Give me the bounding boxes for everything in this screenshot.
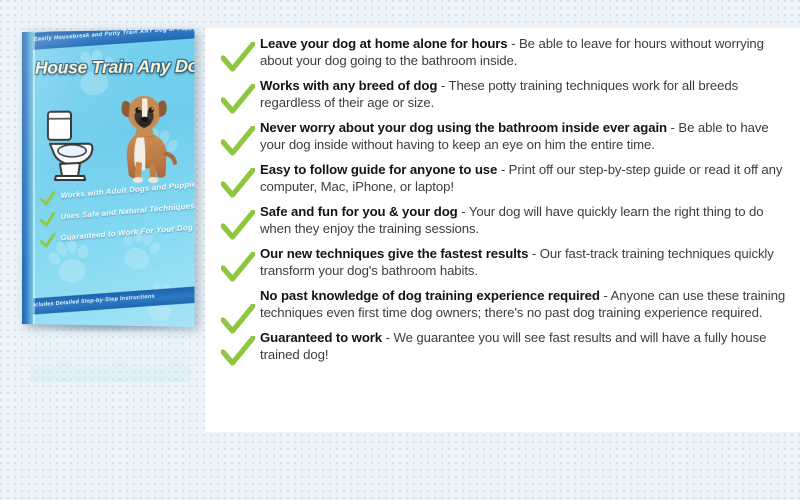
benefit-text: Never worry about your dog using the bat… [260, 120, 793, 153]
benefits-list: Leave your dog at home alone for hours -… [215, 36, 793, 372]
benefit-heading: Never worry about your dog using the bat… [260, 120, 667, 135]
check-icon [221, 252, 255, 282]
benefit-text: Our new techniques give the fastest resu… [260, 246, 793, 279]
benefit-heading: Works with any breed of dog [260, 78, 437, 93]
benefit-item: Guaranteed to work - We guarantee you wi… [215, 330, 793, 364]
benefit-heading: Easy to follow guide for anyone to use [260, 162, 497, 177]
book-spine-edge [33, 32, 35, 324]
benefit-heading: Our new techniques give the fastest resu… [260, 246, 528, 261]
benefit-item: Never worry about your dog using the bat… [215, 120, 793, 154]
benefit-heading: Leave your dog at home alone for hours [260, 36, 508, 51]
benefit-text: No past knowledge of dog training experi… [260, 288, 793, 321]
benefit-item: Leave your dog at home alone for hours -… [215, 36, 793, 70]
cover-bullet-list: Works with Adult Dogs and Puppies Uses S… [40, 190, 195, 254]
benefit-heading: Safe and fun for you & your dog [260, 204, 458, 219]
book-reflection-surface: Includes Detailed Step-by-Step Instructi… [30, 320, 190, 382]
check-icon [221, 84, 255, 114]
benefit-item: Safe and fun for you & your dog - Your d… [215, 204, 793, 238]
boxer-dog-icon [104, 78, 188, 188]
benefit-heading: Guaranteed to work [260, 330, 382, 345]
cover-bottom-banner-text: Includes Detailed Step-by-Step Instructi… [30, 294, 156, 309]
check-icon [221, 168, 255, 198]
benefit-text: Easy to follow guide for anyone to use -… [260, 162, 793, 195]
check-icon [221, 42, 255, 72]
benefits-panel: Leave your dog at home alone for hours -… [205, 28, 800, 432]
page-root: Includes Detailed Step-by-Step Instructi… [0, 0, 800, 500]
book-cover: Easily Housebreak and Potty Train ANY Do… [22, 29, 194, 327]
benefit-text: Guaranteed to work - We guarantee you wi… [260, 330, 793, 363]
benefit-item: Works with any breed of dog - These pott… [215, 78, 793, 112]
check-icon [39, 233, 56, 249]
benefit-item: Easy to follow guide for anyone to use -… [215, 162, 793, 196]
check-icon [221, 210, 255, 240]
benefit-item: No past knowledge of dog training experi… [215, 288, 793, 322]
toilet-icon [42, 109, 100, 182]
benefit-text: Works with any breed of dog - These pott… [260, 78, 793, 111]
benefit-text: Leave your dog at home alone for hours -… [260, 36, 793, 69]
check-icon [39, 212, 56, 228]
benefit-item: Our new techniques give the fastest resu… [215, 246, 793, 280]
check-icon [221, 126, 255, 156]
check-icon [221, 336, 255, 366]
book-spine [22, 32, 33, 324]
product-book-image: Includes Detailed Step-by-Step Instructi… [8, 32, 208, 332]
cover-top-banner-text: Easily Housebreak and Potty Train ANY Do… [34, 29, 195, 43]
book-reflection: Includes Detailed Step-by-Step Instructi… [30, 320, 190, 382]
benefit-text: Safe and fun for you & your dog - Your d… [260, 204, 793, 237]
check-icon [39, 191, 56, 207]
cover-title: House Train Any Dog [35, 56, 189, 79]
benefit-heading: No past knowledge of dog training experi… [260, 288, 600, 303]
